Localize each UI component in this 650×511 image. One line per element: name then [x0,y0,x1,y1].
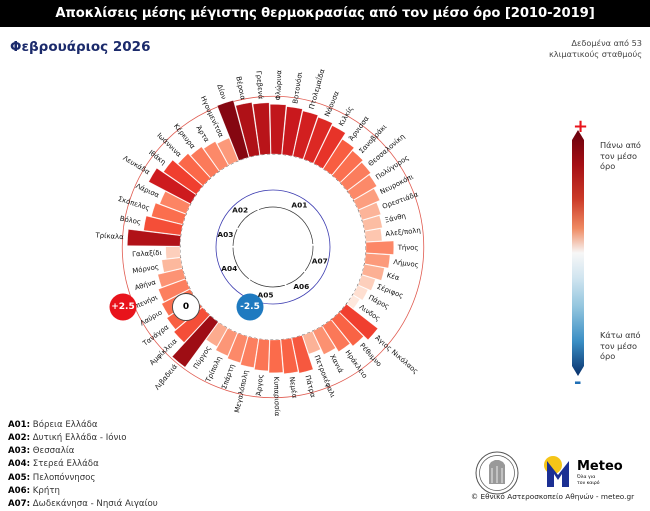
colorbar-bottom-line2: τον μέσο [600,341,641,352]
legend-code: A02 [8,433,27,443]
station-label: Τήνος [397,244,419,252]
station-label: Τρίκαλα [94,231,124,241]
station-label: Νεμέα [288,376,299,399]
legend-name: Δωδεκάνησα - Νησιά Αιγαίου [33,499,158,509]
region-arc [250,280,285,287]
legend-row: A04: Στερεά Ελλάδα [8,458,158,471]
marker-minus-2-5-value: -2.5 [240,302,260,312]
station-label: Δίον [215,83,227,100]
stations-note-line2: κλιματικούς σταθμούς [549,49,642,60]
region-label-a02: A02 [232,206,248,215]
legend-name: Στερεά Ελλάδα [33,459,99,469]
station-label: Πτολεμαΐδα [307,67,327,110]
legend-name: Κρήτη [33,486,60,496]
region-label-a01: A01 [291,201,307,210]
station-label: Αλεξ/πολη [385,226,421,238]
legend-code: A01 [8,420,27,430]
polar-bar-chart: ΔίονΒέροιαΓρεβενάΦλώριναΒοτονόσιΠτολεμαΐ… [0,60,545,460]
colorbar-bottom-label: Κάτω από τον μέσο όρο [600,330,641,362]
region-labels: A01A07A06A05A04A03A02 [217,201,327,300]
station-label: Λαύριο [139,308,164,327]
scale-markers: +2.50-2.5 [110,294,264,321]
legend-code: A06 [8,486,27,496]
legend-row: A01: Βόρεια Ελλάδα [8,419,158,432]
polar-bar[interactable] [366,241,394,254]
meteo-tagline-line2: τον καιρό [577,479,600,486]
region-legend: A01: Βόρεια Ελλάδα A02: Δυτική Ελλάδα - … [8,419,158,511]
station-label: Σκόπελος [117,195,151,212]
polar-bar[interactable] [269,340,283,373]
region-label-a07: A07 [312,257,328,266]
station-label: Ιθάκη [147,148,167,166]
station-label: Κιλκίς [337,105,354,128]
page-title: Αποκλίσεις μέσης μέγιστης θερμοκρασίας α… [55,6,594,21]
title-bar: Αποκλίσεις μέσης μέγιστης θερμοκρασίας α… [0,0,650,27]
station-label: Άγιος Νικόλαος [373,334,419,376]
station-label: Λευκάδα [122,154,152,176]
station-label: Λιβαδειά [153,362,179,391]
marker-zero-value: 0 [183,302,189,312]
meteo-logo [544,456,569,487]
station-label: Βέροια [234,76,247,101]
station-label: Τρίπολη [204,355,224,384]
station-label: Πάτρα [303,374,317,399]
station-label: Άρτα [194,124,210,144]
colorbar-bottom-line1: Κάτω από [600,330,641,341]
marker-minus-2-5: -2.5 [237,294,264,321]
copyright-text: © Εθνικό Αστεροσκοπείο Αθηνών - meteo.gr [455,492,650,501]
legend-name: Θεσσαλία [33,446,75,456]
station-label: Λήμνος [393,258,419,269]
station-label: Γρεβενά [254,71,264,100]
zero-ring [180,154,366,340]
colorbar-top-line2: τον μέσο [600,151,641,162]
region-arc [259,207,313,244]
region-arcs [233,207,313,287]
marker-plus-2-5-value: +2.5 [111,302,134,312]
meteo-wordmark: Meteo [577,459,623,474]
station-label: Γαλαξίδι [132,249,163,259]
station-label: Νάουσα [323,90,341,118]
legend-code: A07 [8,499,27,509]
legend-code: A05 [8,473,27,483]
colorbar-gradient-arrow [572,130,584,376]
station-label: Ξάνθη [384,212,407,225]
station-label: Αθήνα [134,278,158,292]
legend-row: A05: Πελοπόννησος [8,472,158,485]
meteo-tagline-line1: Όλα για [576,473,595,480]
legend-code: A03 [8,446,27,456]
colorbar-top-line1: Πάνω από [600,140,641,151]
marker-zero: 0 [173,294,200,321]
legend-name: Βόρεια Ελλάδα [33,420,98,430]
legend-code: A04 [8,459,27,469]
legend-row: A02: Δυτική Ελλάδα - Ιόνιο [8,432,158,445]
station-label: Κέα [386,271,401,282]
station-label: Βόλος [119,215,141,227]
legend-name: Δυτική Ελλάδα - Ιόνιο [33,433,127,443]
marker-plus-2-5: +2.5 [110,294,137,321]
station-label: Χανιά [328,353,345,375]
station-label: Φλώρινα [274,69,283,100]
polar-bar[interactable] [166,247,181,259]
noa-seal-logo [476,452,518,494]
legend-row: A03: Θεσσαλία [8,445,158,458]
stations-note: Δεδομένα από 53 κλιματικούς σταθμούς [549,38,642,60]
colorbar-bottom-line3: όρο [600,351,641,362]
region-arc [233,229,237,246]
station-label: Μεγαλόπολη [233,369,250,413]
month-label: Φεβρουάριος 2026 [10,39,150,55]
station-label: Κυπαρισσία [272,377,281,417]
station-label: Σπάρτη [220,363,236,390]
stations-note-line1: Δεδομένα από 53 [549,38,642,49]
legend-name: Πελοπόννησος [33,473,96,483]
polar-chart-svg: ΔίονΒέροιαΓρεβενάΦλώριναΒοτονόσιΠτολεμαΐ… [0,60,545,460]
colorbar-top-label: Πάνω από τον μέσο όρο [600,140,641,172]
polar-bar[interactable] [365,229,382,242]
colorbar-top-line3: όρο [600,161,641,172]
region-label-a06: A06 [293,282,309,291]
region-label-a04: A04 [221,264,237,273]
legend-row: A07: Δωδεκάνησα - Νησιά Αιγαίου [8,498,158,511]
region-label-a03: A03 [217,230,233,239]
station-label: Άργος [255,374,265,396]
legend-row: A06: Κρήτη [8,485,158,498]
station-label: Μόρνος [132,263,160,275]
